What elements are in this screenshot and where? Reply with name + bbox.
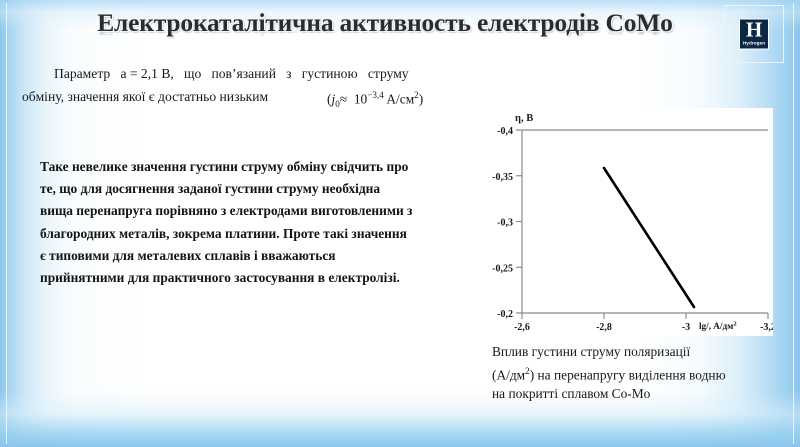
discussion-line: Таке невеликe значення густини струму об… xyxy=(40,156,436,178)
discussion-line: благородних металів, зокрема платини. Пр… xyxy=(40,223,436,245)
discussion-line: є типовими для металевих сплавів і вважа… xyxy=(40,245,436,267)
polarization-chart: η, В -0,4 -0,35 -0,3 -0,25 -0,2 xyxy=(485,108,773,336)
figure-caption-line: Вплив густини струму поляризації xyxy=(492,342,792,362)
hydrogen-logo-wordmark: Hydrogen xyxy=(743,41,765,46)
hydrogen-logo-letter: H xyxy=(746,20,762,41)
intro-word-z: з xyxy=(286,66,291,81)
discussion-line: те, що для досягнення заданої густини ст… xyxy=(40,178,436,200)
discussion-paragraph: Таке невеликe значення густини струму об… xyxy=(40,156,436,289)
figure-caption-line: на покритті сплавом Co-Mo xyxy=(492,384,792,404)
slide-title-area: Електрокаталітична активность електродів… xyxy=(60,8,710,62)
exchange-current-formula: (j0≈ 10−3,4 A/см2) xyxy=(327,90,423,109)
intro-word-scho: що xyxy=(184,66,201,81)
formula-approx-sign: ≈ xyxy=(340,91,347,106)
intro-word-parameter: Параметр xyxy=(54,66,110,81)
intro-word-hustynoyu: густиною xyxy=(302,66,358,81)
chart-y-tick-label: -0,4 xyxy=(497,126,513,137)
chart-x-tick-label: -2,8 xyxy=(596,322,612,333)
hydrogen-logo: H Hydrogen xyxy=(724,5,784,63)
chart-x-tick-label: -3 xyxy=(682,322,690,333)
chart-x-tick-label: -3,2 xyxy=(760,322,773,333)
discussion-line: прийнятними для практичного застосування… xyxy=(40,267,436,289)
intro-word-povyazanyi: пов’язаний xyxy=(211,66,276,81)
intro-line-2: обміну, значення якої є достатньо низьки… xyxy=(22,89,268,104)
chart-y-tick-label: -0,2 xyxy=(497,309,513,320)
discussion-line: вища перенапруга порівняно з електродами… xyxy=(40,200,436,222)
chart-plot-background xyxy=(485,108,773,336)
intro-value-a: a = 2,1 В, xyxy=(120,66,173,81)
chart-y-tick-label: -0,25 xyxy=(492,263,513,274)
chart-x-axis-label: lg/, А/дм2 xyxy=(699,321,737,332)
page-title-reflection: Електрокаталітична активность електродів… xyxy=(60,23,710,38)
figure-caption-line: (А/дм2) на перенапругу виділення водню xyxy=(492,362,792,385)
figure-caption-units-post: ) на перенапругу виділення водню xyxy=(530,367,726,382)
formula-exponent: −3,4 xyxy=(367,90,384,100)
chart-x-axis-label-text: lg/, А/дм xyxy=(699,321,733,331)
left-edge-divider xyxy=(6,3,7,444)
chart-y-tick-label: -0,35 xyxy=(492,172,513,183)
slide: Електрокаталітична активность електродів… xyxy=(0,0,800,447)
formula-close-paren: ) xyxy=(419,91,423,106)
intro-word-strumu: струму xyxy=(368,66,409,81)
chart-x-tick-label: -2,6 xyxy=(514,322,530,333)
formula-units: A/см xyxy=(384,91,414,106)
hydrogen-logo-badge: H Hydrogen xyxy=(739,19,769,50)
right-edge-divider xyxy=(793,3,794,444)
formula-base-ten: 10 xyxy=(354,91,367,106)
chart-y-axis-label: η, В xyxy=(515,113,533,124)
polarization-chart-svg: η, В -0,4 -0,35 -0,3 -0,25 -0,2 xyxy=(485,108,773,336)
chart-y-tick-label: -0,3 xyxy=(497,218,513,229)
figure-caption: Вплив густини струму поляризації (А/дм2)… xyxy=(492,342,792,404)
figure-caption-units-pre: (А/дм xyxy=(492,367,525,382)
